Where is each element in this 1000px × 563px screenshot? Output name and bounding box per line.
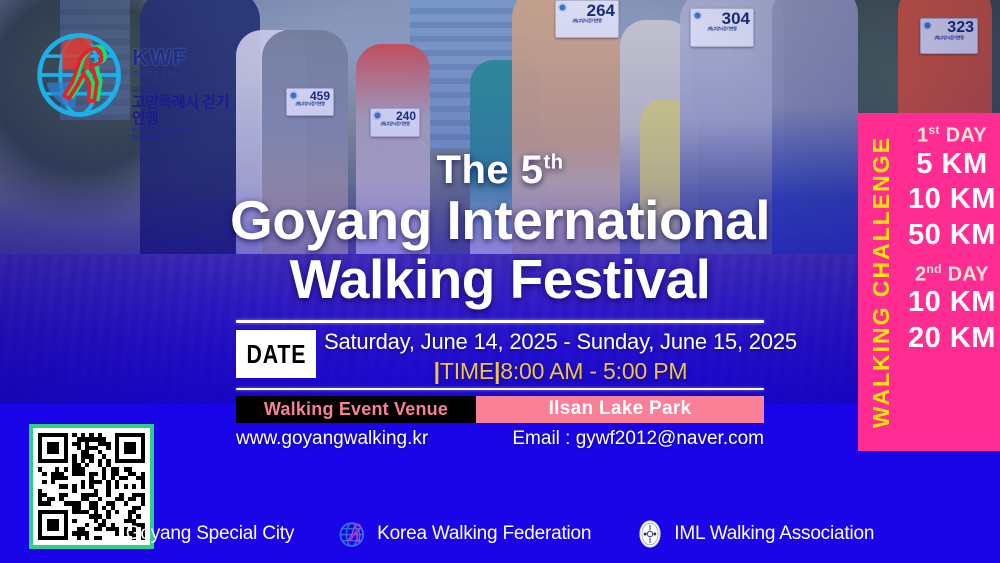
day-1-header: 1st DAY	[904, 124, 1000, 147]
date-row: DATE Saturday, June 14, 2025 - Sunday, J…	[236, 330, 764, 386]
venue-value: Ilsan Lake Park	[476, 396, 764, 423]
divider-top	[236, 320, 764, 323]
sponsor-korea-walking-federation: Korea Walking Federation	[338, 519, 591, 549]
day-1-distance: 50 KM	[904, 218, 1000, 254]
globe-walker-icon	[34, 28, 128, 122]
venue-label: Walking Event Venue	[236, 396, 476, 423]
walking-challenge-panel: WALKING CHALLENGE 1st DAY 5 KM 10 KM 50 …	[858, 113, 1000, 451]
headline-line-1: Goyang International	[0, 192, 1000, 249]
venue-row: Walking Event Venue Ilsan Lake Park	[236, 396, 764, 423]
day-1-distance: 5 KM	[904, 147, 1000, 183]
date-badge-label: DATE	[246, 339, 306, 370]
challenge-distance-list: 1st DAY 5 KM 10 KM 50 KM 2nd DAY 10 KM 2…	[904, 113, 1000, 451]
headline-number: 5	[521, 148, 544, 192]
event-poster: 459(재)고양시걷기연맹 240(재)고양시걷기연맹 264(재)고양시걷기연…	[0, 0, 1000, 563]
headline-ordinal-suffix: th	[544, 152, 564, 174]
sponsor-label: Korea Walking Federation	[377, 523, 591, 545]
sponsor-goyang-special-city: Goyang Special City	[126, 523, 294, 545]
day-2-distance: 10 KM	[904, 285, 1000, 321]
challenge-spacer	[904, 254, 1000, 263]
oval-seal-icon	[635, 519, 665, 549]
time-value: 8:00 AM - 5:00 PM	[500, 358, 687, 384]
day-1-distance: 10 KM	[904, 182, 1000, 218]
logo-name-en: KOREA WALKING FEDERATION	[132, 127, 230, 141]
event-date-text: Saturday, June 14, 2025 - Sunday, June 1…	[324, 330, 797, 353]
logo-brand: KWF	[132, 46, 230, 69]
headline-the: The	[437, 148, 510, 192]
email-link[interactable]: Email : gywf2012@naver.com	[512, 428, 764, 450]
sponsor-label: IML Walking Association	[674, 523, 874, 545]
time-label: TIME	[440, 358, 494, 384]
logo-name-kr: 고양특례시 걷기연맹	[132, 95, 230, 127]
divider-bottom	[236, 388, 764, 390]
logo-since: SINCE 1996	[132, 71, 230, 78]
day-2-distance: 20 KM	[904, 321, 1000, 357]
kwf-logo: KWF SINCE 1996 재단법인 고양특례시 걷기연맹 KOREA WAL…	[34, 24, 230, 128]
website-link[interactable]: www.goyangwalking.kr	[236, 428, 428, 450]
globe-walker-icon	[338, 519, 368, 549]
day-2-header: 2nd DAY	[904, 263, 1000, 286]
sponsor-bar: Goyang Special City Korea Walking Federa…	[0, 505, 1000, 563]
challenge-vertical-title: WALKING CHALLENGE	[858, 113, 904, 451]
headline-edition: The 5th	[0, 150, 1000, 190]
sponsor-label: Goyang Special City	[126, 523, 294, 545]
contact-row: www.goyangwalking.kr Email : gywf2012@na…	[236, 428, 764, 450]
headline-line-2: Walking Festival	[0, 251, 1000, 308]
event-time-row: |TIME|8:00 AM - 5:00 PM	[324, 358, 797, 386]
sponsor-iml-walking-association: IML Walking Association	[635, 519, 874, 549]
poster-headline: The 5th Goyang International Walking Fes…	[0, 150, 1000, 307]
date-badge: DATE	[236, 330, 316, 378]
event-info-block: DATE Saturday, June 14, 2025 - Sunday, J…	[236, 320, 764, 450]
